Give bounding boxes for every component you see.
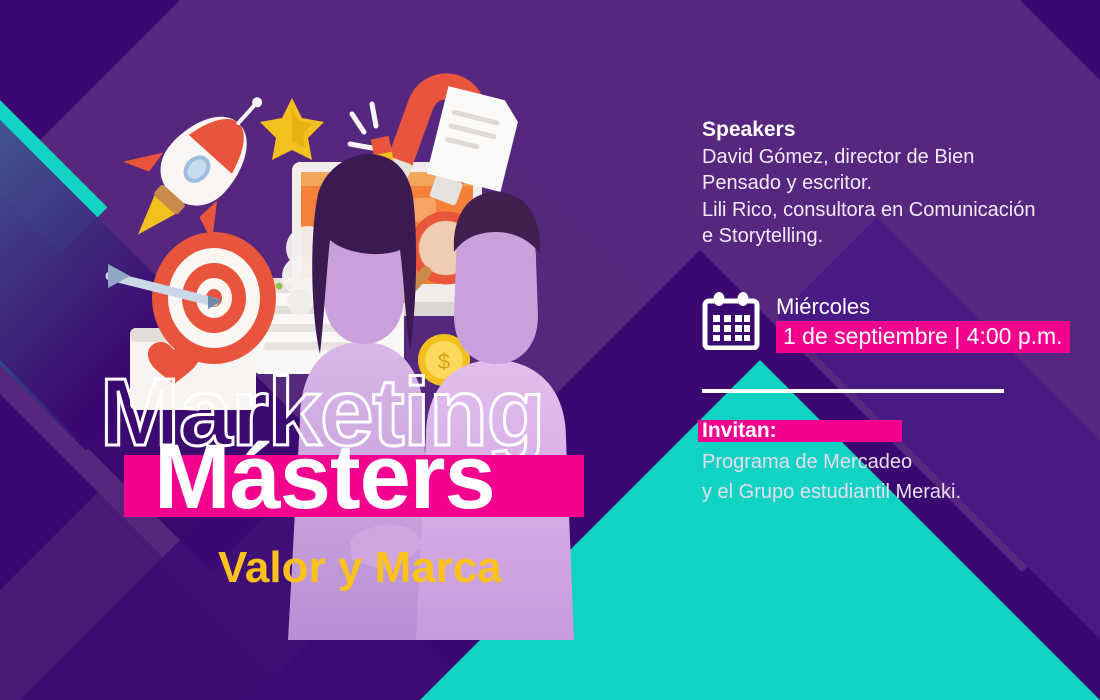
calendar-icon	[702, 292, 760, 350]
speaker-line: Pensado y escritor.	[702, 170, 1062, 196]
event-date-row: Miércoles 1 de septiembre | 4:00 p.m.	[702, 292, 1062, 353]
invitan-line: y el Grupo estudiantil Meraki.	[702, 478, 1062, 506]
title-masters: Másters	[154, 431, 495, 523]
poster-subtitle: Valor y Marca	[218, 543, 660, 593]
invitan-section: Invitan: Programa de Mercadeo y el Grupo…	[702, 415, 1062, 507]
poster-title-block: Marketing Másters Valor y Marca	[100, 372, 660, 593]
event-date-text: Miércoles 1 de septiembre | 4:00 p.m.	[776, 292, 1070, 353]
section-divider	[702, 389, 1004, 393]
event-day-label: Miércoles	[776, 294, 1070, 319]
speaker-line: David Gómez, director de Bien	[702, 144, 1062, 170]
invitan-label: Invitan:	[702, 415, 1062, 447]
promotional-poster: $	[0, 0, 1100, 700]
speakers-heading: Speakers	[702, 118, 1062, 142]
event-date-time: 1 de septiembre | 4:00 p.m.	[776, 321, 1070, 353]
title-masters-row: Másters	[100, 439, 660, 519]
info-column: Speakers David Gómez, director de Bien P…	[702, 118, 1062, 506]
speaker-line: Lili Rico, consultora en Comunicación	[702, 197, 1062, 223]
speaker-line: e Storytelling.	[702, 223, 1062, 249]
invitan-line: Programa de Mercadeo	[702, 448, 1062, 476]
